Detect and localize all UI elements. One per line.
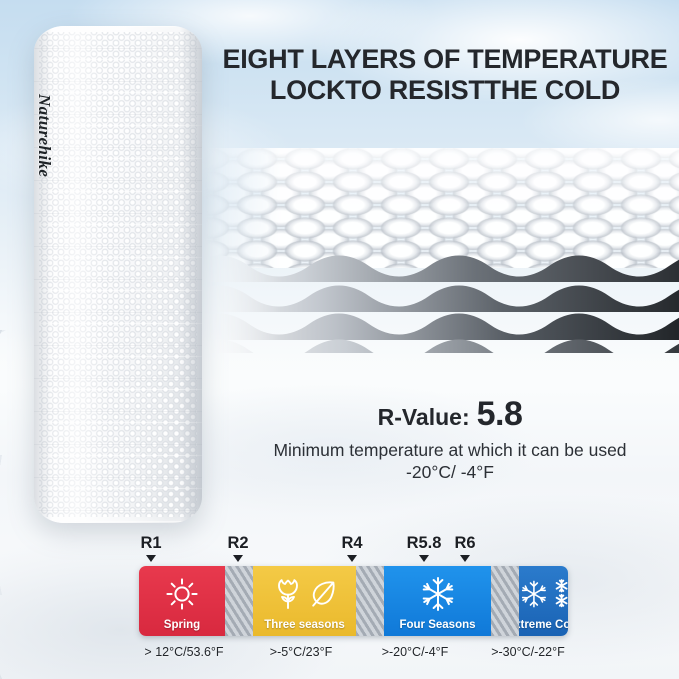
scale-divider-1: [225, 566, 253, 636]
scale-divider-3: [491, 566, 519, 636]
scale-marker-r2: R2: [203, 535, 273, 562]
scale-segment-four-seasons[interactable]: Four Seasons: [384, 566, 491, 636]
marker-triangle-icon: [233, 555, 243, 562]
marker-triangle-icon: [419, 555, 429, 562]
scale-divider-2: [356, 566, 384, 636]
marker-triangle-icon: [146, 555, 156, 562]
segment-label: Spring: [164, 619, 200, 631]
scale-marker-label: R2: [203, 535, 273, 552]
segment-label: Four Seasons: [399, 619, 475, 631]
scale-marker-r1: R1: [116, 535, 186, 562]
temperature-scale-bar: Spring Three seasons: [139, 566, 568, 636]
marker-triangle-icon: [460, 555, 470, 562]
sun-icon: [139, 574, 225, 614]
scale-marker-label: R4: [317, 535, 387, 552]
tulip-and-leaf-icon: [253, 574, 356, 614]
marker-triangle-icon: [347, 555, 357, 562]
scale-segment-extreme-cold[interactable]: Extreme Cold: [519, 566, 568, 636]
segment-label: Extreme Cold: [519, 619, 568, 631]
segment-label: Three seasons: [264, 619, 345, 631]
scale-segment-spring[interactable]: Spring: [139, 566, 225, 636]
r-value-scale: R1 R2 R4 R5.8 R6: [0, 0, 679, 679]
temperature-label: >-5°C/23°F: [245, 645, 357, 659]
temperature-label: >-30°C/-22°F: [473, 645, 583, 659]
temperature-label: >-20°C/-4°F: [357, 645, 473, 659]
scale-marker-r4: R4: [317, 535, 387, 562]
scale-marker-label: R6: [430, 535, 500, 552]
temperature-label: > 12°C/53.6°F: [123, 645, 245, 659]
snowflake-icon: [384, 574, 491, 614]
product-infographic: Naturehike: [0, 0, 679, 679]
scale-marker-r6: R6: [430, 535, 500, 562]
scale-marker-label: R1: [116, 535, 186, 552]
temperature-range-labels: > 12°C/53.6°F >-5°C/23°F >-20°C/-4°F >-3…: [123, 645, 583, 659]
scale-segment-three-seasons[interactable]: Three seasons: [253, 566, 356, 636]
triple-snowflake-icon: [519, 574, 568, 614]
